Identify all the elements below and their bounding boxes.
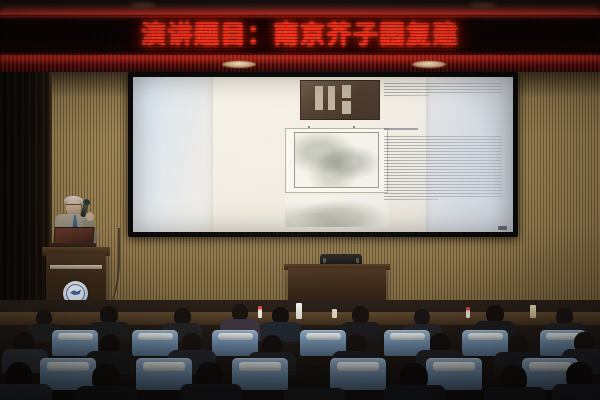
ceiling-spotlight-left [130,3,156,7]
audience-shoulders [76,386,138,400]
seat-headrest [390,333,425,340]
seat-headrest [337,362,379,371]
audience-shoulders [284,388,346,400]
bottle-amber [530,305,536,318]
audience-head [414,309,430,325]
speaker-glasses [66,204,81,209]
audience-shoulders [180,384,242,400]
seat-headrest [47,362,89,371]
seat-headrest [143,362,185,371]
projection-screen [128,72,518,237]
speaker-hand [86,212,94,221]
slide-text-heading [384,128,418,130]
seat-headrest [58,333,93,340]
audience-shoulders [552,384,600,400]
paper-cup [332,309,337,318]
slide-landscape-illustration [285,195,388,228]
lecture-hall-photo: 演讲题目：南京芥子园复建 [0,0,600,400]
seat-headrest [529,362,571,371]
laptop-screen [53,227,94,244]
seat-headrest [433,362,475,371]
led-banner-text: 演讲题目：南京芥子园复建 [141,22,459,47]
valance-glow [0,55,600,64]
screen-brand-logo [498,226,507,230]
seat-headrest [218,333,253,340]
valance-light-left [222,61,256,68]
seat-headrest [138,333,173,340]
left-dark-curtain [0,72,52,330]
bottle-red-cap [258,306,262,318]
slide-book-cover-image [300,80,380,120]
bottle-red-cap-2 [466,307,470,318]
audience-shoulders [384,385,446,400]
slide-scroll-illustration [285,128,388,193]
projection-screen-surface [133,77,513,232]
audience-shoulders [0,384,52,400]
slide-text-body [384,136,502,226]
audience-seating [0,300,600,400]
led-banner: 演讲题目：南京芥子园复建 [0,13,600,55]
slide-text-top [384,83,502,102]
ceiling-spotlight-right [470,3,496,7]
seat-headrest [239,362,281,371]
lectern-trim-strip [50,265,102,269]
seat-headrest [306,333,341,340]
valance-light-right [412,61,446,68]
seat-headrest [468,333,503,340]
thermos-white [296,303,302,319]
audience-shoulders [484,387,546,400]
